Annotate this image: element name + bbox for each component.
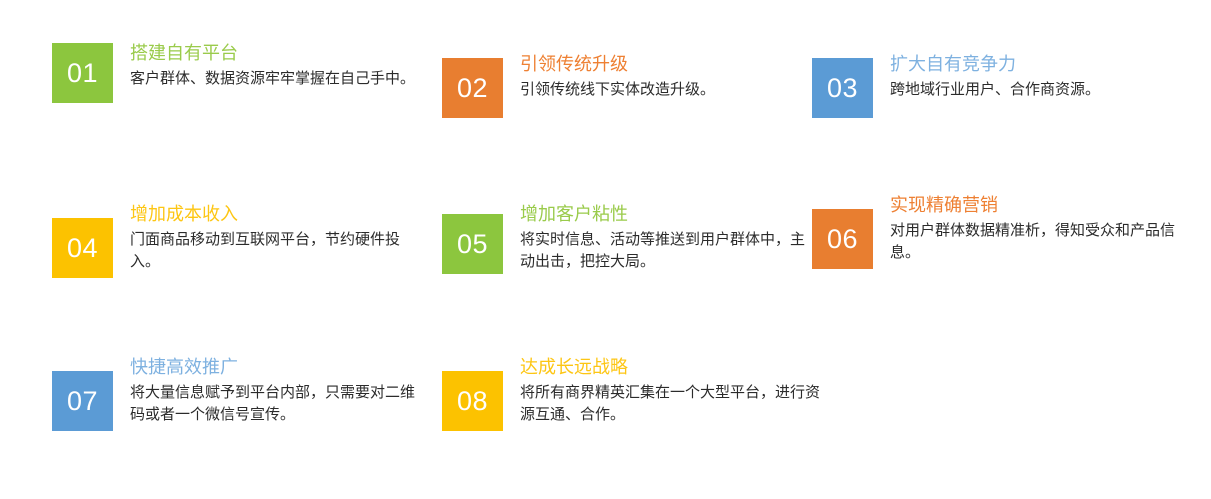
feature-description-08: 将所有商界精英汇集在一个大型平台，进行资源互通、合作。 (520, 381, 820, 425)
feature-number-badge-08: 08 (442, 371, 503, 431)
feature-text-block-04: 增加成本收入 门面商品移动到互联网平台，节约硬件投入。 (130, 204, 415, 272)
feature-number-badge-03: 03 (812, 58, 873, 118)
feature-title-08: 达成长远战略 (520, 357, 820, 379)
feature-description-05: 将实时信息、活动等推送到用户群体中，主动出击，把控大局。 (520, 228, 810, 272)
feature-title-05: 增加客户粘性 (520, 204, 810, 226)
feature-card-06[interactable]: 06 实现精确营销 对用户群体数据精准析，得知受众和产品信息。 (812, 195, 1185, 269)
feature-title-03: 扩大自有竞争力 (890, 54, 1190, 76)
feature-description-02: 引领传统线下实体改造升级。 (520, 78, 820, 100)
feature-card-04[interactable]: 04 增加成本收入 门面商品移动到互联网平台，节约硬件投入。 (52, 204, 415, 278)
feature-number-badge-06: 06 (812, 209, 873, 269)
feature-grid: 01 搭建自有平台 客户群体、数据资源牢牢掌握在自己手中。 02 引领传统升级 … (0, 0, 1211, 499)
feature-number-badge-04: 04 (52, 218, 113, 278)
feature-description-04: 门面商品移动到互联网平台，节约硬件投入。 (130, 228, 415, 272)
feature-card-05[interactable]: 05 增加客户粘性 将实时信息、活动等推送到用户群体中，主动出击，把控大局。 (442, 204, 810, 274)
feature-card-07[interactable]: 07 快捷高效推广 将大量信息赋予到平台内部，只需要对二维码或者一个微信号宣传。 (52, 357, 420, 431)
feature-title-04: 增加成本收入 (130, 204, 415, 226)
feature-number-badge-01: 01 (52, 43, 113, 103)
feature-text-block-06: 实现精确营销 对用户群体数据精准析，得知受众和产品信息。 (890, 195, 1185, 263)
feature-card-01[interactable]: 01 搭建自有平台 客户群体、数据资源牢牢掌握在自己手中。 (52, 43, 415, 103)
feature-text-block-08: 达成长远战略 将所有商界精英汇集在一个大型平台，进行资源互通、合作。 (520, 357, 820, 425)
feature-description-01: 客户群体、数据资源牢牢掌握在自己手中。 (130, 67, 415, 89)
feature-title-02: 引领传统升级 (520, 54, 820, 76)
feature-number-badge-05: 05 (442, 214, 503, 274)
feature-text-block-01: 搭建自有平台 客户群体、数据资源牢牢掌握在自己手中。 (130, 43, 415, 89)
feature-text-block-05: 增加客户粘性 将实时信息、活动等推送到用户群体中，主动出击，把控大局。 (520, 204, 810, 272)
feature-description-03: 跨地域行业用户、合作商资源。 (890, 78, 1190, 100)
feature-description-07: 将大量信息赋予到平台内部，只需要对二维码或者一个微信号宣传。 (130, 381, 420, 425)
feature-card-02[interactable]: 02 引领传统升级 引领传统线下实体改造升级。 (442, 54, 820, 118)
feature-title-07: 快捷高效推广 (130, 357, 420, 379)
feature-title-01: 搭建自有平台 (130, 43, 415, 65)
feature-number-badge-02: 02 (442, 58, 503, 118)
feature-text-block-02: 引领传统升级 引领传统线下实体改造升级。 (520, 54, 820, 100)
feature-card-03[interactable]: 03 扩大自有竞争力 跨地域行业用户、合作商资源。 (812, 54, 1190, 118)
feature-title-06: 实现精确营销 (890, 195, 1185, 217)
feature-text-block-07: 快捷高效推广 将大量信息赋予到平台内部，只需要对二维码或者一个微信号宣传。 (130, 357, 420, 425)
feature-text-block-03: 扩大自有竞争力 跨地域行业用户、合作商资源。 (890, 54, 1190, 100)
feature-number-badge-07: 07 (52, 371, 113, 431)
feature-description-06: 对用户群体数据精准析，得知受众和产品信息。 (890, 219, 1185, 263)
feature-card-08[interactable]: 08 达成长远战略 将所有商界精英汇集在一个大型平台，进行资源互通、合作。 (442, 357, 820, 431)
